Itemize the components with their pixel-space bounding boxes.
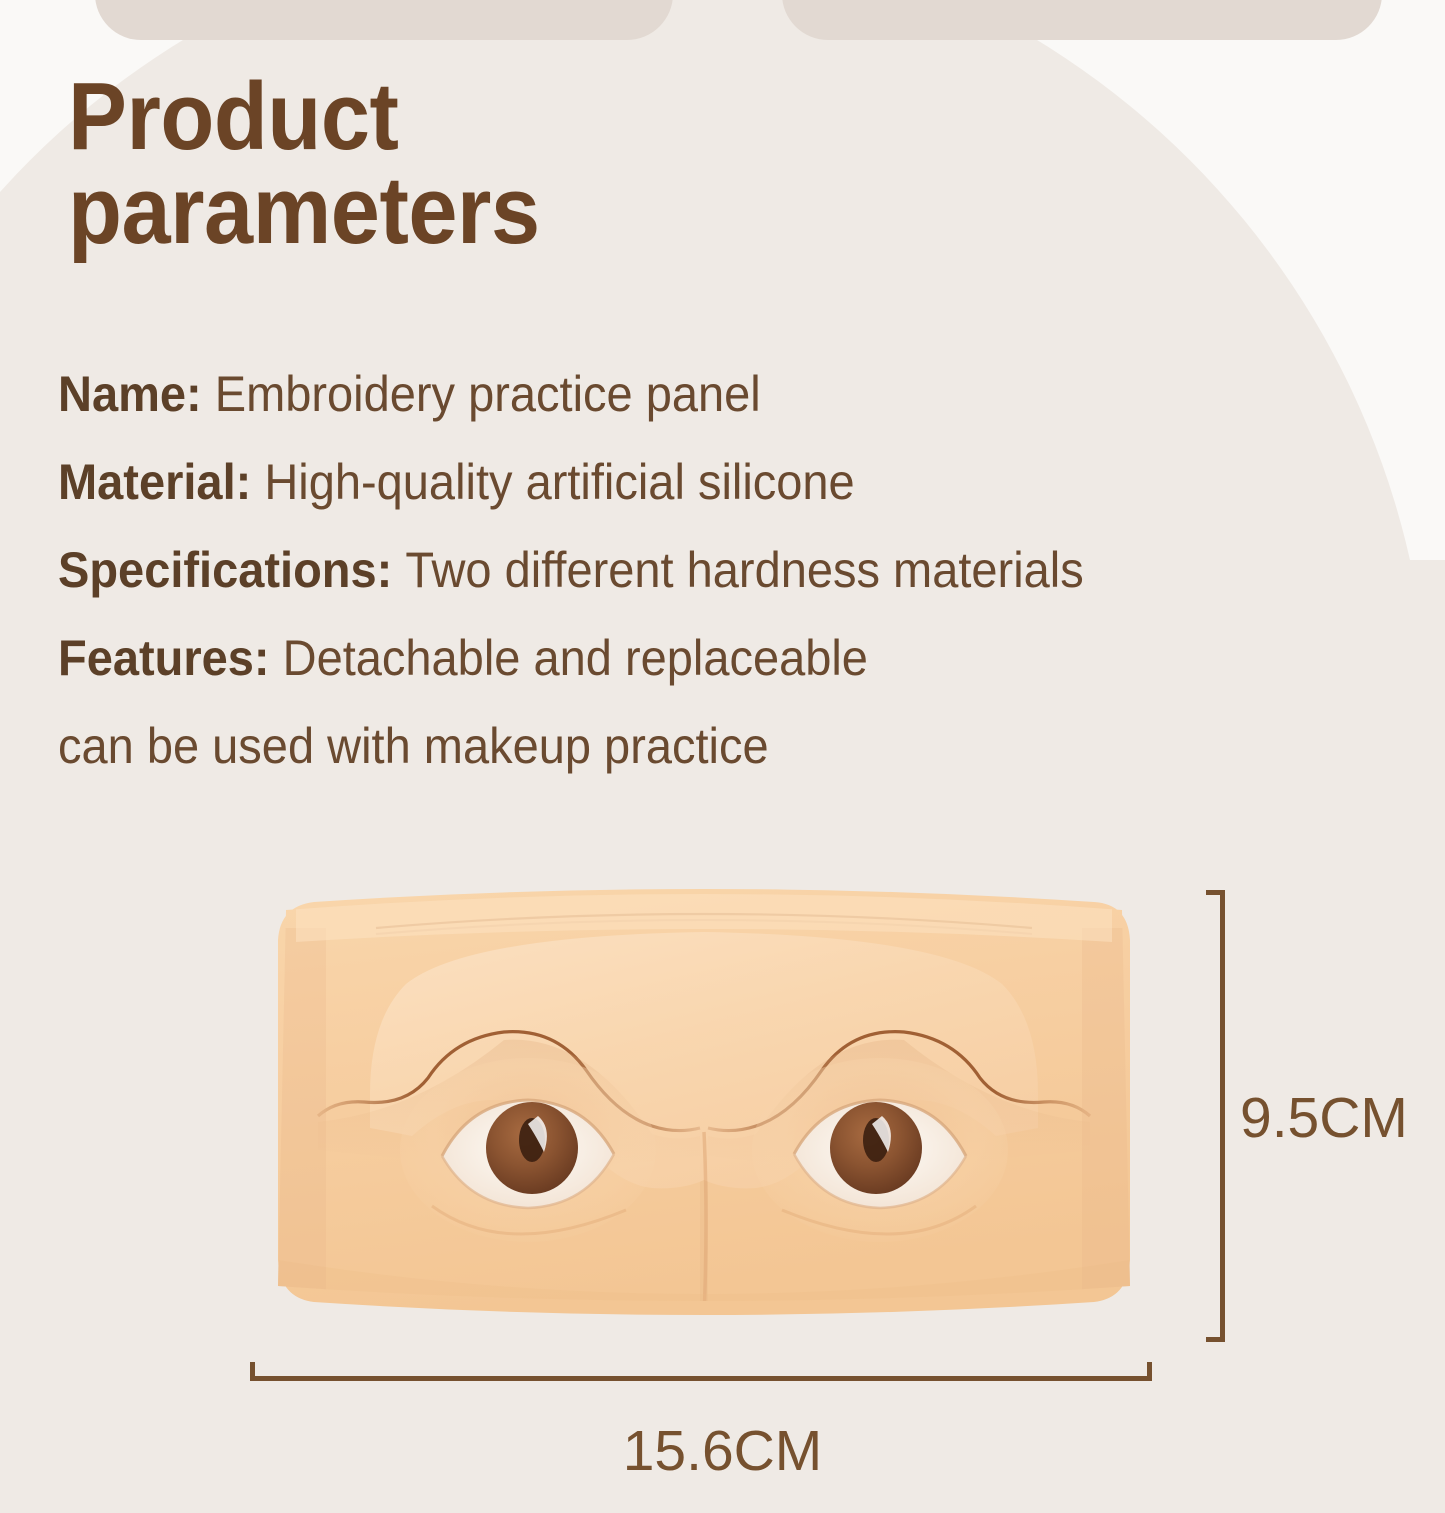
- product-parameters-infographic: Product parameters Name: Embroidery prac…: [0, 0, 1445, 1513]
- height-dimension-bracket: [1206, 890, 1236, 1342]
- width-dimension-bracket: [250, 1362, 1152, 1392]
- spec-value-specifications: Two different hardness materials: [405, 542, 1083, 598]
- width-tick-right: [1147, 1362, 1152, 1381]
- page-title-line2: parameters: [68, 164, 896, 258]
- right-eye: [752, 1058, 1008, 1242]
- left-eye: [400, 1058, 656, 1242]
- page-title-line1: Product: [68, 63, 398, 170]
- spec-label-material: Material:: [58, 454, 264, 510]
- height-tick-bottom: [1206, 1337, 1225, 1342]
- spec-row-features: Features: Detachable and replaceable: [58, 614, 1365, 702]
- spec-value-features-cont: can be used with makeup practice: [58, 718, 769, 774]
- product-image-silicone-eye-pad: [256, 888, 1152, 1330]
- spec-label-specifications: Specifications:: [58, 542, 405, 598]
- width-dimension-label: 15.6CM: [0, 1418, 1445, 1484]
- spec-row-name: Name: Embroidery practice panel: [58, 350, 1365, 438]
- spec-label-features: Features:: [58, 630, 283, 686]
- spec-value-material: High-quality artificial silicone: [264, 454, 854, 510]
- spec-label-name: Name:: [58, 366, 215, 422]
- page-title: Product parameters: [68, 70, 896, 258]
- width-dimension-line: [250, 1376, 1152, 1381]
- height-dimension-label: 9.5CM: [1240, 1085, 1408, 1151]
- height-dimension-line: [1220, 890, 1225, 1342]
- spec-list: Name: Embroidery practice panel Material…: [58, 350, 1445, 790]
- spec-row-material: Material: High-quality artificial silico…: [58, 438, 1365, 526]
- spec-row-specifications: Specifications: Two different hardness m…: [58, 526, 1365, 614]
- spec-value-features: Detachable and replaceable: [283, 630, 868, 686]
- spec-row-features-cont: can be used with makeup practice: [58, 702, 1365, 790]
- spec-value-name: Embroidery practice panel: [215, 366, 761, 422]
